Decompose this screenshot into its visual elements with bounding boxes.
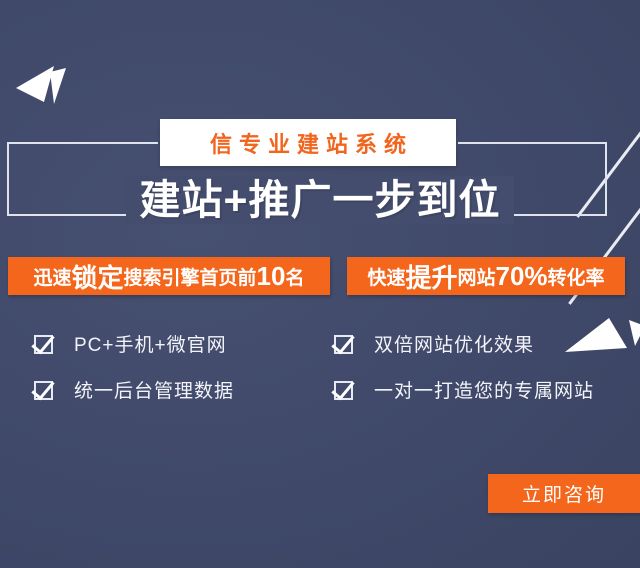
ribbon-text-segment: 搜索引擎首页前	[124, 263, 257, 290]
page-title-text: 建站+推广一步到位	[126, 176, 515, 224]
ribbon-text-segment: 提升	[405, 258, 457, 295]
ribbon-text-segment: 名	[285, 263, 304, 290]
feature-item: 统一后台管理数据	[34, 376, 334, 403]
promo-banner: 信专业建站系统 建站+推广一步到位 迅速锁定搜索引擎首页前10名 快速提升网站7…	[0, 0, 640, 568]
highlight-ribbon-left: 迅速锁定搜索引擎首页前10名	[8, 257, 330, 295]
feature-label: 双倍网站优化效果	[374, 330, 534, 357]
feature-row: PC+手机+微官网 双倍网站优化效果	[34, 330, 634, 357]
ribbon-text-segment: 迅速	[34, 263, 72, 290]
feature-row: 统一后台管理数据 一对一打造您的专属网站	[34, 376, 634, 403]
ribbon-text-segment: 锁定	[72, 258, 124, 295]
consult-now-label: 立即咨询	[522, 480, 606, 507]
subtitle-badge-label: 信专业建站系统	[203, 127, 413, 159]
ribbon-text-segment: 网站	[457, 263, 495, 290]
checkbox-checked-icon	[334, 333, 356, 355]
checkbox-checked-icon	[34, 333, 56, 355]
consult-now-button[interactable]: 立即咨询	[488, 474, 640, 513]
feature-list: PC+手机+微官网 双倍网站优化效果 统一后台管理数据 一对一打造您的专属	[34, 330, 634, 422]
feature-item: PC+手机+微官网	[34, 330, 334, 357]
ribbon-text-segment: 快速	[367, 263, 405, 290]
feature-label: 统一后台管理数据	[74, 376, 234, 403]
ribbon-text-segment: 70%	[495, 261, 547, 292]
feature-label: 一对一打造您的专属网站	[374, 376, 594, 403]
feature-label: PC+手机+微官网	[74, 330, 227, 357]
checkbox-checked-icon	[34, 379, 56, 401]
checkbox-checked-icon	[334, 379, 356, 401]
ribbon-text-segment: 10	[257, 261, 286, 292]
paper-plane-icon	[14, 58, 74, 110]
page-title: 建站+推广一步到位	[0, 176, 640, 224]
ribbon-text-segment: 转化率	[548, 263, 605, 290]
feature-item: 一对一打造您的专属网站	[334, 376, 634, 403]
highlight-ribbon-right: 快速提升网站70%转化率	[347, 257, 625, 295]
feature-item: 双倍网站优化效果	[334, 330, 634, 357]
subtitle-badge: 信专业建站系统	[160, 119, 456, 166]
